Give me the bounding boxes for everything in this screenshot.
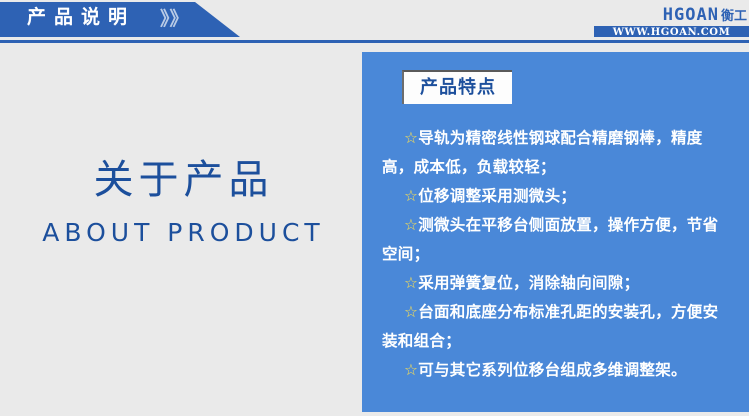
about-product-section: 关于产品 ABOUT PRODUCT xyxy=(0,45,362,416)
list-item-text: 可与其它系列位移台组成多维调整架。 xyxy=(418,361,687,379)
about-title-cn: 关于产品 xyxy=(0,155,362,205)
logo-mark: HGOAN 衡工 xyxy=(663,6,747,24)
list-item: ☆导轨为精密线性钢球配合精磨钢棒，精度高，成本低，负载较轻； xyxy=(382,124,732,182)
header-divider-blue xyxy=(0,40,749,43)
list-item-text: 台面和底座分布标准孔距的安装孔，方便安装和组合； xyxy=(382,303,718,350)
star-icon: ☆ xyxy=(404,303,418,321)
page-header: 产品说明 》》 HGOAN 衡工 WWW.HGOAN.COM xyxy=(0,0,749,45)
header-banner-title: 产品说明 xyxy=(27,5,135,30)
list-item-text: 导轨为精密线性钢球配合精磨钢棒，精度高，成本低，负载较轻； xyxy=(382,129,703,176)
panel-title-text: 产品特点 xyxy=(420,77,496,99)
page-bottom-edge xyxy=(0,412,749,416)
star-icon: ☆ xyxy=(404,129,418,147)
logo-chinese-name: 衡工 xyxy=(721,8,747,26)
product-features-panel: 产品特点 ☆导轨为精密线性钢球配合精磨钢棒，精度高，成本低，负载较轻； ☆位移调… xyxy=(362,52,749,412)
star-icon: ☆ xyxy=(404,274,418,292)
list-item-text: 采用弹簧复位，消除轴向间隙； xyxy=(418,274,639,292)
list-item-text: 位移调整采用测微头； xyxy=(418,187,576,205)
panel-title-box: 产品特点 xyxy=(402,70,512,104)
chevron-right-icon: 》》 xyxy=(160,8,189,30)
star-icon: ☆ xyxy=(404,187,418,205)
star-icon: ☆ xyxy=(404,216,418,234)
list-item: ☆采用弹簧复位，消除轴向间隙； xyxy=(382,269,732,298)
list-item: ☆可与其它系列位移台组成多维调整架。 xyxy=(382,356,732,385)
brand-logo: HGOAN 衡工 WWW.HGOAN.COM xyxy=(589,6,749,40)
logo-letters: HGOAN xyxy=(663,6,719,24)
list-item-text: 测微头在平移台侧面放置，操作方便，节省空间； xyxy=(382,216,718,263)
star-icon: ☆ xyxy=(404,361,418,379)
list-item: ☆测微头在平移台侧面放置，操作方便，节省空间； xyxy=(382,211,732,269)
feature-list: ☆导轨为精密线性钢球配合精磨钢棒，精度高，成本低，负载较轻； ☆位移调整采用测微… xyxy=(382,124,732,385)
list-item: ☆台面和底座分布标准孔距的安装孔，方便安装和组合； xyxy=(382,298,732,356)
about-title-en: ABOUT PRODUCT xyxy=(0,217,362,249)
list-item: ☆位移调整采用测微头； xyxy=(382,182,732,211)
